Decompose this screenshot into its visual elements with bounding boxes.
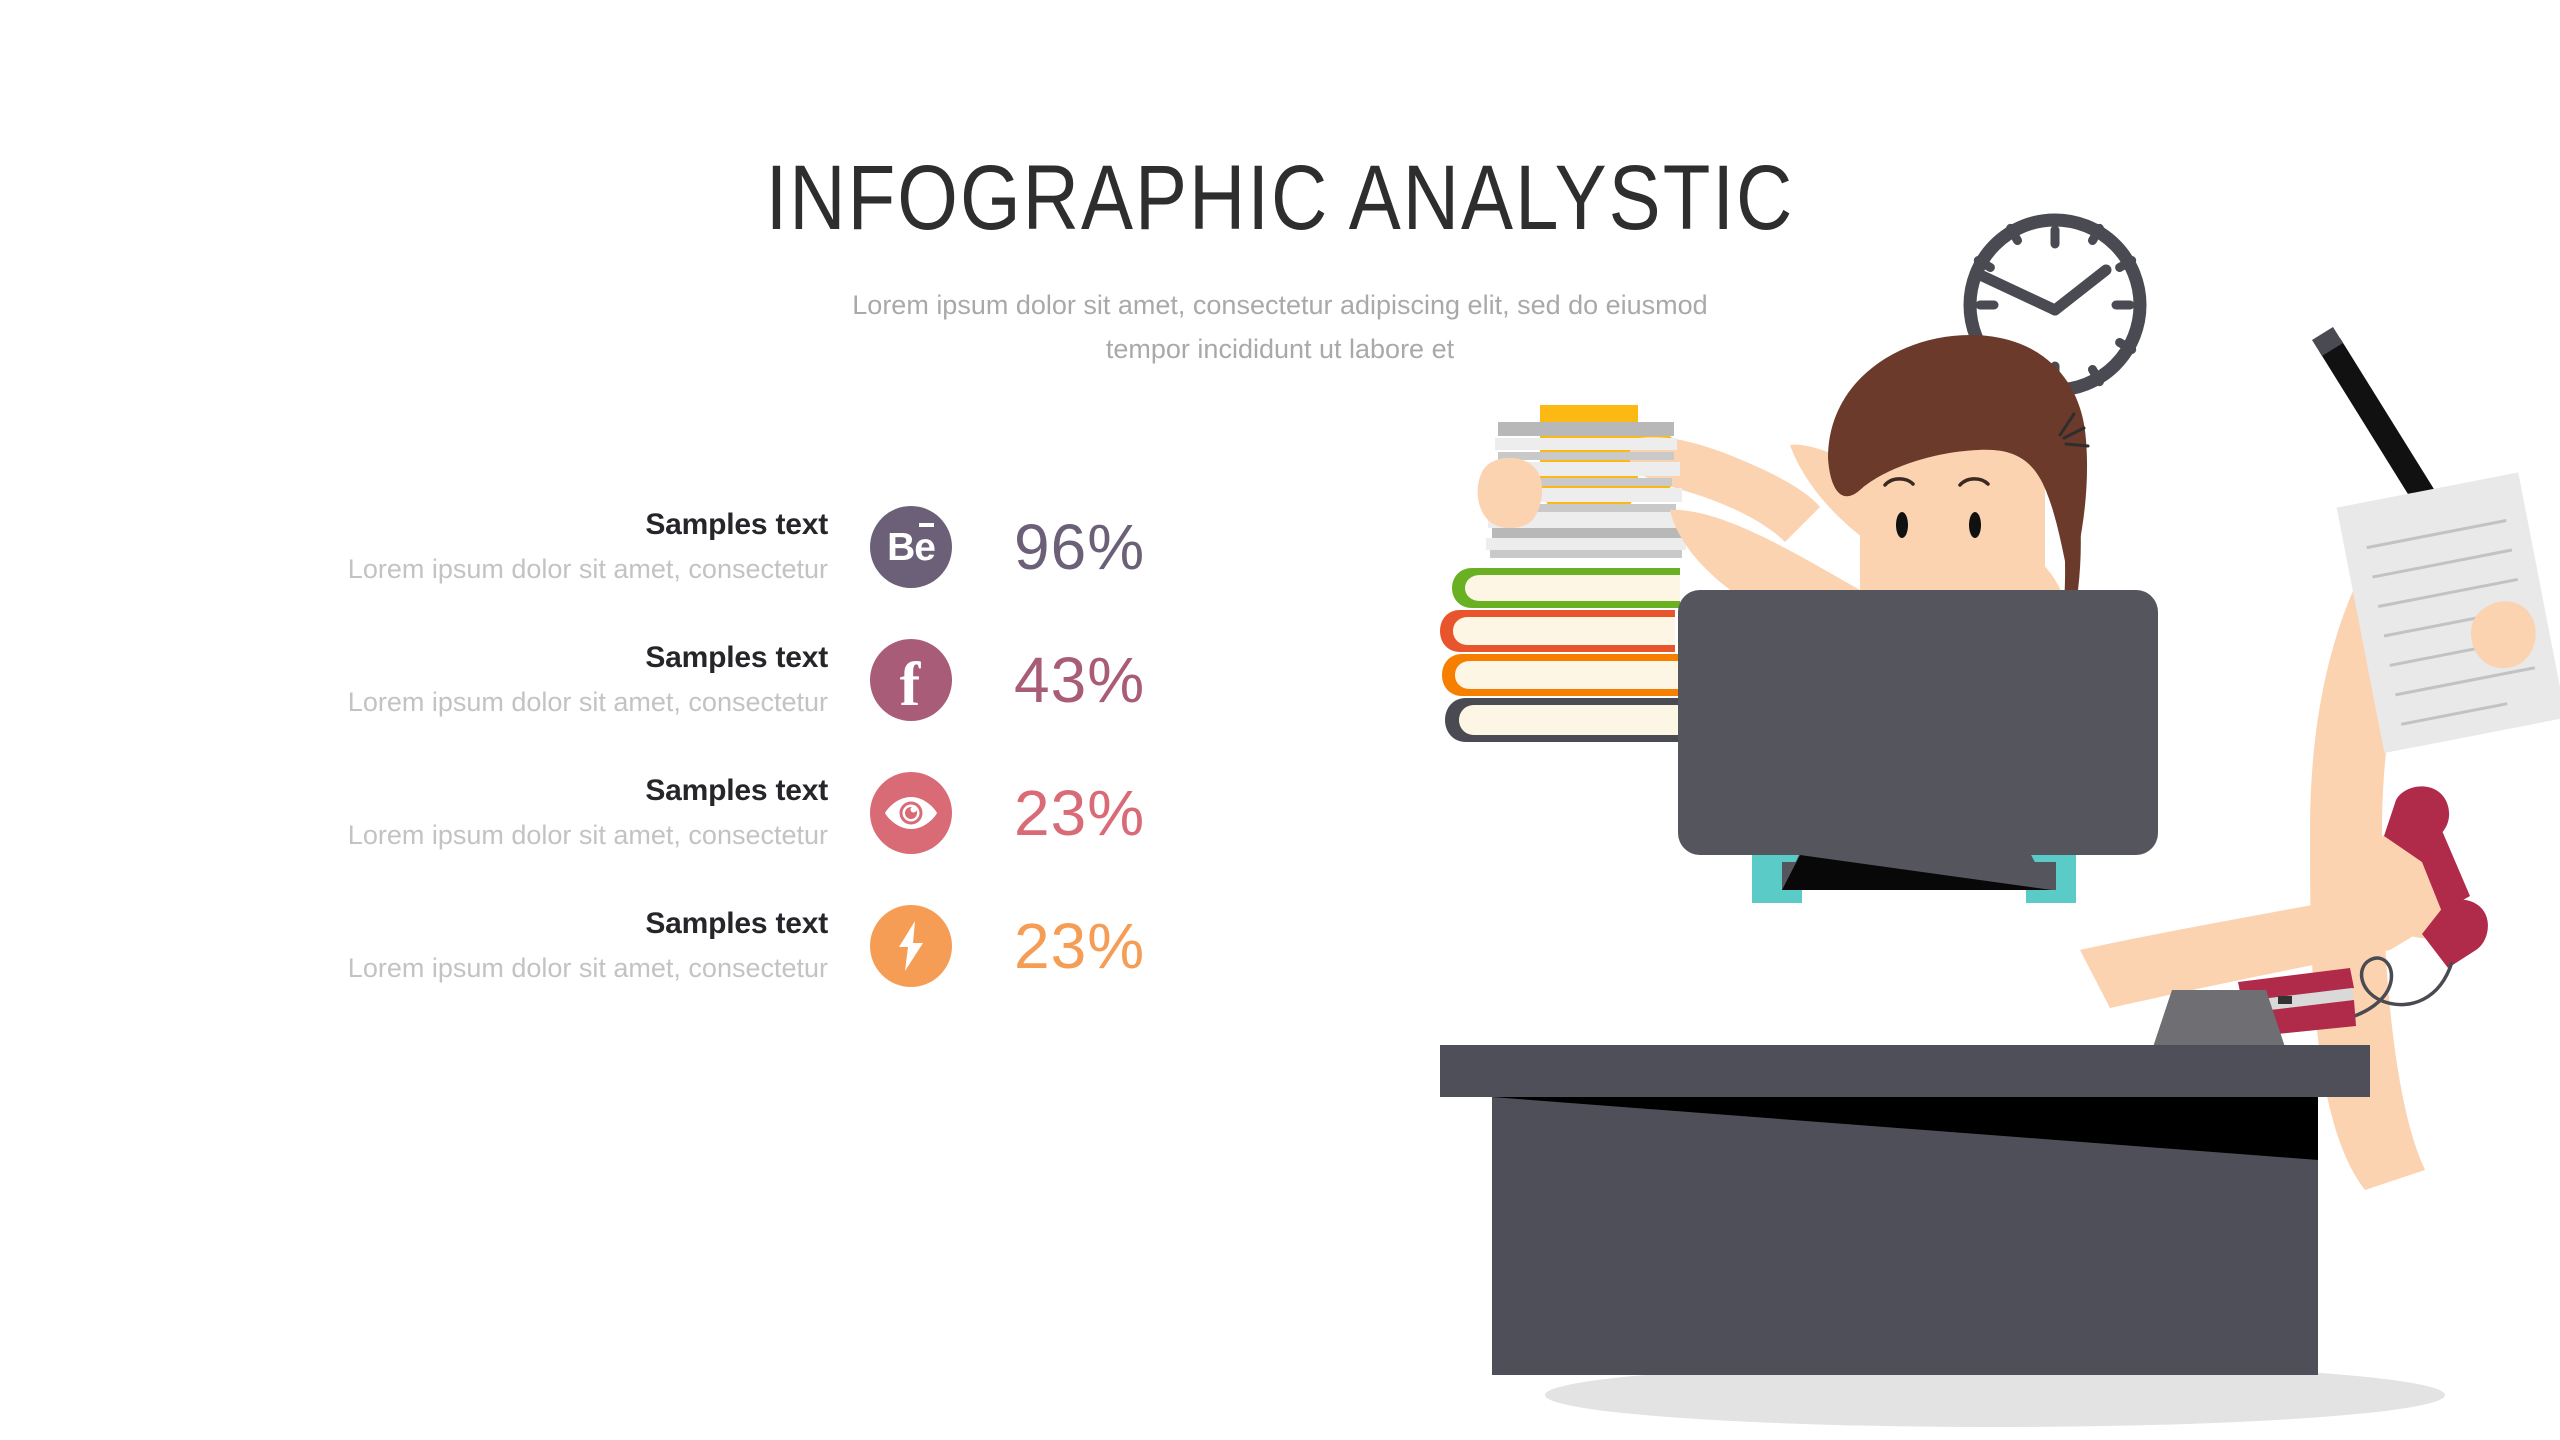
eye-left xyxy=(1896,512,1908,538)
stat-description: Lorem ipsum dolor sit amet, consectetur xyxy=(150,677,828,720)
eye-right xyxy=(1969,512,1981,538)
behance-glyph: Be xyxy=(887,528,935,567)
stat-text-block: Samples text Lorem ipsum dolor sit amet,… xyxy=(150,905,870,986)
stat-title: Samples text xyxy=(150,506,828,544)
stat-value: 23% xyxy=(952,914,1145,978)
bolt-glyph xyxy=(896,921,926,971)
stat-value: 96% xyxy=(952,515,1145,579)
paper-hand xyxy=(1478,458,1542,528)
desk-top xyxy=(1440,1045,2370,1097)
stat-row[interactable]: Samples text Lorem ipsum dolor sit amet,… xyxy=(150,879,1310,1012)
stat-value: 23% xyxy=(952,781,1145,845)
desk xyxy=(1440,1045,2370,1375)
macron-bar xyxy=(919,523,934,527)
busy-worker-illustration xyxy=(1430,190,2560,1440)
eye-icon[interactable] xyxy=(870,772,952,854)
stat-description: Lorem ipsum dolor sit amet, consectetur xyxy=(150,810,828,853)
stat-description: Lorem ipsum dolor sit amet, consectetur xyxy=(150,943,828,986)
behance-icon[interactable]: Be xyxy=(870,506,952,588)
stat-text-block: Samples text Lorem ipsum dolor sit amet,… xyxy=(150,639,870,720)
stat-value: 43% xyxy=(952,648,1145,712)
document-hand xyxy=(2471,601,2536,668)
computer-monitor xyxy=(1678,590,2158,903)
stat-description: Lorem ipsum dolor sit amet, consectetur xyxy=(150,544,828,587)
facebook-glyph: f xyxy=(900,654,921,716)
bolt-icon[interactable] xyxy=(870,905,952,987)
stat-text-block: Samples text Lorem ipsum dolor sit amet,… xyxy=(150,506,870,587)
stats-list: Samples text Lorem ipsum dolor sit amet,… xyxy=(150,480,1310,1012)
stat-row[interactable]: Samples text Lorem ipsum dolor sit amet,… xyxy=(150,613,1310,746)
stat-row[interactable]: Samples text Lorem ipsum dolor sit amet,… xyxy=(150,480,1310,613)
stat-row[interactable]: Samples text Lorem ipsum dolor sit amet,… xyxy=(150,746,1310,879)
stat-text-block: Samples text Lorem ipsum dolor sit amet,… xyxy=(150,772,870,853)
stat-title: Samples text xyxy=(150,772,828,810)
book-stack xyxy=(1440,568,1686,742)
stat-title: Samples text xyxy=(150,639,828,677)
facebook-icon[interactable]: f xyxy=(870,639,952,721)
eye-glyph xyxy=(883,793,939,833)
stat-title: Samples text xyxy=(150,905,828,943)
telephone-base xyxy=(2152,990,2286,1050)
